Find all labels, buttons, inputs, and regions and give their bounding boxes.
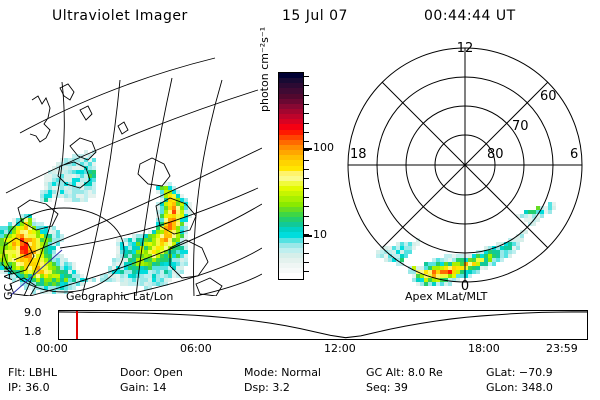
aurora-pixel: [80, 198, 84, 202]
aurora-pixel: [504, 254, 508, 258]
aurora-pixel: [476, 254, 480, 258]
aurora-pixel: [0, 238, 4, 242]
aurora-pixel: [528, 210, 532, 214]
aurora-pixel: [476, 262, 480, 266]
aurora-pixel: [80, 178, 84, 182]
aurora-pixel: [60, 278, 64, 282]
colorbar-major-tick: [304, 148, 312, 150]
aurora-pixel: [84, 174, 88, 178]
aurora-pixel: [52, 238, 56, 242]
aurora-pixel: [16, 250, 20, 254]
aurora-pixel: [52, 190, 56, 194]
aurora-pixel: [500, 246, 504, 250]
aurora-pixel: [500, 258, 504, 262]
aurora-pixel: [116, 278, 120, 282]
aurora-pixel: [160, 214, 164, 218]
aurora-pixel: [132, 278, 136, 282]
aurora-pixel: [144, 246, 148, 250]
colorbar-minor-tick: [304, 188, 309, 189]
aurora-pixel: [132, 250, 136, 254]
aurora-pixel: [8, 258, 12, 262]
aurora-pixel: [0, 230, 4, 234]
aurora-pixel: [160, 234, 164, 238]
aurora-pixel: [156, 282, 160, 286]
aurora-pixel: [24, 238, 28, 242]
aurora-pixel: [504, 246, 508, 250]
aurora-pixel: [36, 222, 40, 226]
aurora-pixel: [36, 278, 40, 282]
aurora-pixel: [92, 174, 96, 178]
aurora-pixel: [168, 202, 172, 206]
aurora-pixel: [64, 278, 68, 282]
aurora-pixel: [120, 278, 124, 282]
aurora-pixel: [72, 198, 76, 202]
aurora-pixel: [160, 230, 164, 234]
aurora-pixel: [44, 286, 48, 290]
aurora-pixel: [176, 234, 180, 238]
aurora-pixel: [32, 234, 36, 238]
aurora-pixel: [20, 262, 24, 266]
aurora-pixel: [184, 206, 188, 210]
aurora-pixel: [16, 246, 20, 250]
aurora-pixel: [172, 262, 176, 266]
aurora-pixel: [136, 250, 140, 254]
aurora-pixel: [144, 254, 148, 258]
aurora-pixel: [536, 218, 540, 222]
aurora-pixel: [484, 246, 488, 250]
aurora-pixel: [72, 190, 76, 194]
aurora-pixel: [176, 222, 180, 226]
aurora-pixel: [28, 238, 32, 242]
aurora-pixel: [92, 178, 96, 182]
aurora-pixel: [20, 250, 24, 254]
aurora-pixel: [164, 254, 168, 258]
aurora-pixel: [504, 250, 508, 254]
aurora-pixel: [156, 186, 160, 190]
aurora-pixel: [528, 218, 532, 222]
aurora-pixel: [176, 194, 180, 198]
aurora-pixel: [16, 234, 20, 238]
aurora-pixel: [4, 230, 8, 234]
aurora-pixel: [520, 234, 524, 238]
aurora-pixel: [52, 174, 56, 178]
aurora-pixel: [520, 238, 524, 242]
aurora-pixel: [484, 258, 488, 262]
colorbar-minor-tick: [304, 113, 309, 114]
aurora-pixel: [60, 266, 64, 270]
aurora-pixel: [468, 266, 472, 270]
aurora-pixel: [136, 238, 140, 242]
aurora-pixel: [60, 234, 64, 238]
aurora-pixel: [48, 250, 52, 254]
geographic-plot-svg: [0, 38, 262, 296]
aurora-pixel: [40, 274, 44, 278]
aurora-pixel: [36, 254, 40, 258]
aurora-pixel: [472, 266, 476, 270]
aurora-pixel: [56, 234, 60, 238]
aurora-pixel: [84, 198, 88, 202]
aurora-pixel: [168, 182, 172, 186]
aurora-pixel: [52, 262, 56, 266]
aurora-pixel: [156, 230, 160, 234]
aurora-pixel: [168, 270, 172, 274]
colorbar-minor-tick: [304, 216, 309, 217]
aurora-pixel: [40, 278, 44, 282]
aurora-pixel: [156, 274, 160, 278]
aurora-pixel: [160, 218, 164, 222]
aurora-pixel: [16, 262, 20, 266]
aurora-pixel: [164, 270, 168, 274]
aurora-pixel: [152, 238, 156, 242]
magnetic-plot-svg: 12 18 6 0 60 70 80: [332, 38, 594, 296]
aurora-pixel: [76, 182, 80, 186]
aurora-pixel: [52, 170, 56, 174]
aurora-pixel: [60, 190, 64, 194]
aurora-pixel: [48, 186, 52, 190]
aurora-pixel: [176, 254, 180, 258]
aurora-pixel: [176, 202, 180, 206]
aurora-pixel: [512, 246, 516, 250]
aurora-pixel: [508, 254, 512, 258]
aurora-pixel: [144, 262, 148, 266]
aurora-pixel: [92, 170, 96, 174]
aurora-pixel: [68, 270, 72, 274]
aurora-pixel: [472, 254, 476, 258]
aurora-pixel: [168, 194, 172, 198]
aurora-pixel: [56, 258, 60, 262]
aurora-pixel: [176, 258, 180, 262]
aurora-pixel: [64, 194, 68, 198]
aurora-pixel: [512, 250, 516, 254]
aurora-pixel: [24, 230, 28, 234]
aurora-pixel: [12, 234, 16, 238]
aurora-pixel: [44, 278, 48, 282]
aurora-pixel: [516, 242, 520, 246]
aurora-pixel: [56, 270, 60, 274]
aurora-pixel: [120, 274, 124, 278]
aurora-pixel: [168, 214, 172, 218]
aurora-pixel: [128, 246, 132, 250]
aurora-pixel: [152, 262, 156, 266]
aurora-pixel: [88, 182, 92, 186]
aurora-pixel: [496, 258, 500, 262]
aurora-pixel: [548, 206, 552, 210]
aurora-pixel: [88, 194, 92, 198]
aurora-pixel: [140, 278, 144, 282]
aurora-pixel: [168, 278, 172, 282]
aurora-pixel: [32, 238, 36, 242]
aurora-pixel: [512, 242, 516, 246]
aurora-pixel: [12, 230, 16, 234]
aurora-pixel: [156, 234, 160, 238]
aurora-pixel: [136, 282, 140, 286]
aurora-pixel: [492, 262, 496, 266]
aurora-pixel: [52, 194, 56, 198]
aurora-pixel: [164, 206, 168, 210]
aurora-pixel: [36, 282, 40, 286]
aurora-pixel: [116, 254, 120, 258]
aurora-pixel: [88, 166, 92, 170]
aurora-pixel: [88, 162, 92, 166]
aurora-pixel: [128, 274, 132, 278]
aurora-pixel: [88, 190, 92, 194]
aurora-pixel: [92, 194, 96, 198]
aurora-pixel: [52, 246, 56, 250]
aurora-pixel: [24, 226, 28, 230]
aurora-pixel: [68, 178, 72, 182]
aurora-pixel: [184, 246, 188, 250]
aurora-pixel: [176, 190, 180, 194]
aurora-pixel: [20, 226, 24, 230]
aurora-pixel: [136, 246, 140, 250]
aurora-pixel: [40, 238, 44, 242]
aurora-pixel: [172, 206, 176, 210]
colorbar-minor-tick: [304, 253, 309, 254]
aurora-pixel: [60, 282, 64, 286]
aurora-pixel: [148, 262, 152, 266]
aurora-pixel: [88, 170, 92, 174]
aurora-pixel: [140, 262, 144, 266]
aurora-pixel: [552, 206, 556, 210]
aurora-pixel: [180, 222, 184, 226]
aurora-pixel: [76, 274, 80, 278]
aurora-pixel: [8, 222, 12, 226]
aurora-pixel: [528, 214, 532, 218]
aurora-pixel: [148, 258, 152, 262]
aurora-emission-layer: [0, 150, 192, 294]
aurora-pixel: [44, 198, 48, 202]
aurora-pixel: [116, 238, 120, 242]
colorbar-ticks: [304, 72, 312, 280]
aurora-pixel: [468, 262, 472, 266]
aurora-pixel: [132, 234, 136, 238]
aurora-pixel: [140, 282, 144, 286]
aurora-pixel: [36, 274, 40, 278]
aurora-pixel: [180, 198, 184, 202]
aurora-pixel: [24, 234, 28, 238]
aurora-pixel: [148, 246, 152, 250]
aurora-pixel: [524, 218, 528, 222]
aurora-pixel: [128, 242, 132, 246]
geographic-panel-title: Geographic Lat/Lon: [66, 290, 173, 303]
aurora-pixel: [160, 242, 164, 246]
aurora-pixel: [124, 274, 128, 278]
colorbar-minor-tick: [304, 95, 309, 96]
aurora-pixel: [184, 262, 188, 266]
aurora-pixel: [180, 194, 184, 198]
aurora-pixel: [32, 246, 36, 250]
aurora-pixel: [44, 266, 48, 270]
aurora-pixel: [180, 206, 184, 210]
aurora-pixel: [160, 274, 164, 278]
aurora-pixel: [64, 158, 68, 162]
aurora-pixel: [524, 210, 528, 214]
aurora-pixel: [172, 254, 176, 258]
aurora-pixel: [164, 202, 168, 206]
aurora-pixel: [168, 226, 172, 230]
magnetic-polar-panel[interactable]: 12 18 6 0 60 70 80: [332, 38, 594, 296]
aurora-pixel: [172, 258, 176, 262]
aurora-oval-layer: [376, 202, 556, 286]
aurora-pixel: [20, 258, 24, 262]
aurora-pixel: [68, 266, 72, 270]
aurora-pixel: [56, 162, 60, 166]
aurora-pixel: [160, 206, 164, 210]
aurora-pixel: [472, 270, 476, 274]
aurora-pixel: [516, 246, 520, 250]
aurora-pixel: [180, 246, 184, 250]
aurora-pixel: [132, 238, 136, 242]
aurora-pixel: [76, 170, 80, 174]
aurora-pixel: [152, 250, 156, 254]
aurora-pixel: [52, 278, 56, 282]
aurora-pixel: [116, 262, 120, 266]
aurora-pixel: [24, 262, 28, 266]
aurora-pixel: [164, 186, 168, 190]
aurora-pixel: [48, 178, 52, 182]
aurora-pixel: [52, 186, 56, 190]
aurora-pixel: [52, 274, 56, 278]
aurora-pixel: [44, 182, 48, 186]
aurora-pixel: [48, 182, 52, 186]
aurora-pixel: [44, 190, 48, 194]
aurora-pixel: [156, 270, 160, 274]
aurora-pixel: [72, 170, 76, 174]
aurora-pixel: [88, 186, 92, 190]
aurora-pixel: [148, 230, 152, 234]
aurora-pixel: [24, 246, 28, 250]
aurora-pixel: [72, 278, 76, 282]
aurora-pixel: [12, 218, 16, 222]
aurora-pixel: [28, 270, 32, 274]
aurora-pixel: [32, 218, 36, 222]
aurora-pixel: [180, 254, 184, 258]
aurora-pixel: [40, 230, 44, 234]
aurora-pixel: [184, 226, 188, 230]
aurora-pixel: [72, 194, 76, 198]
aurora-pixel: [168, 274, 172, 278]
aurora-pixel: [132, 266, 136, 270]
colorbar-minor-tick: [304, 262, 309, 263]
aurora-pixel: [136, 254, 140, 258]
aurora-pixel: [108, 266, 112, 270]
aurora-pixel: [144, 234, 148, 238]
aurora-pixel: [184, 234, 188, 238]
aurora-pixel: [128, 250, 132, 254]
aurora-pixel: [532, 222, 536, 226]
aurora-pixel: [60, 194, 64, 198]
aurora-pixel: [476, 270, 480, 274]
aurora-pixel: [160, 254, 164, 258]
aurora-pixel: [524, 214, 528, 218]
aurora-pixel: [172, 202, 176, 206]
aurora-pixel: [64, 258, 68, 262]
aurora-pixel: [488, 262, 492, 266]
aurora-pixel: [20, 242, 24, 246]
aurora-pixel: [124, 270, 128, 274]
aurora-pixel: [128, 266, 132, 270]
colorbar-minor-tick: [304, 197, 309, 198]
aurora-pixel: [168, 234, 172, 238]
aurora-pixel: [484, 266, 488, 270]
aurora-pixel: [104, 274, 108, 278]
aurora-pixel: [492, 254, 496, 258]
aurora-pixel: [44, 270, 48, 274]
aurora-pixel: [544, 206, 548, 210]
aurora-pixel: [184, 250, 188, 254]
aurora-pixel: [544, 210, 548, 214]
aurora-pixel: [68, 198, 72, 202]
aurora-pixel: [80, 194, 84, 198]
aurora-pixel: [116, 246, 120, 250]
aurora-pixel: [0, 234, 4, 238]
aurora-pixel: [48, 174, 52, 178]
aurora-pixel: [164, 246, 168, 250]
aurora-pixel: [84, 186, 88, 190]
aurora-pixel: [28, 254, 32, 258]
aurora-pixel: [92, 162, 96, 166]
colorbar-minor-tick: [304, 76, 309, 77]
aurora-pixel: [72, 174, 76, 178]
aurora-pixel: [136, 234, 140, 238]
colorbar-minor-tick: [304, 141, 309, 142]
aurora-pixel: [508, 246, 512, 250]
aurora-pixel: [548, 202, 552, 206]
colorbar-segment: [279, 273, 303, 278]
aurora-pixel: [52, 178, 56, 182]
observation-time: 00:44:44 UT: [424, 8, 516, 24]
aurora-pixel: [132, 270, 136, 274]
aurora-pixel: [56, 282, 60, 286]
aurora-pixel: [168, 206, 172, 210]
aurora-pixel: [32, 242, 36, 246]
aurora-pixel: [68, 174, 72, 178]
aurora-pixel: [76, 198, 80, 202]
aurora-pixel: [64, 186, 68, 190]
aurora-pixel: [124, 242, 128, 246]
aurora-pixel: [496, 242, 500, 246]
aurora-pixel: [48, 278, 52, 282]
aurora-pixel: [36, 238, 40, 242]
aurora-pixel: [176, 262, 180, 266]
aurora-pixel: [156, 266, 160, 270]
aurora-pixel: [488, 258, 492, 262]
aurora-pixel: [72, 266, 76, 270]
aurora-pixel: [164, 238, 168, 242]
aurora-pixel: [128, 270, 132, 274]
aurora-pixel: [160, 270, 164, 274]
aurora-pixel: [92, 186, 96, 190]
aurora-pixel: [176, 206, 180, 210]
aurora-pixel: [180, 226, 184, 230]
aurora-pixel: [168, 210, 172, 214]
aurora-pixel: [48, 234, 52, 238]
aurora-pixel: [124, 254, 128, 258]
aurora-pixel: [80, 170, 84, 174]
aurora-pixel: [480, 254, 484, 258]
aurora-pixel: [40, 234, 44, 238]
aurora-pixel: [76, 178, 80, 182]
aurora-pixel: [16, 266, 20, 270]
aurora-pixel: [160, 258, 164, 262]
geographic-image-panel[interactable]: [0, 38, 262, 296]
aurora-pixel: [68, 194, 72, 198]
colorbar-minor-tick: [304, 169, 309, 170]
aurora-pixel: [60, 270, 64, 274]
aurora-pixel: [72, 178, 76, 182]
aurora-pixel: [176, 266, 180, 270]
aurora-pixel: [172, 250, 176, 254]
